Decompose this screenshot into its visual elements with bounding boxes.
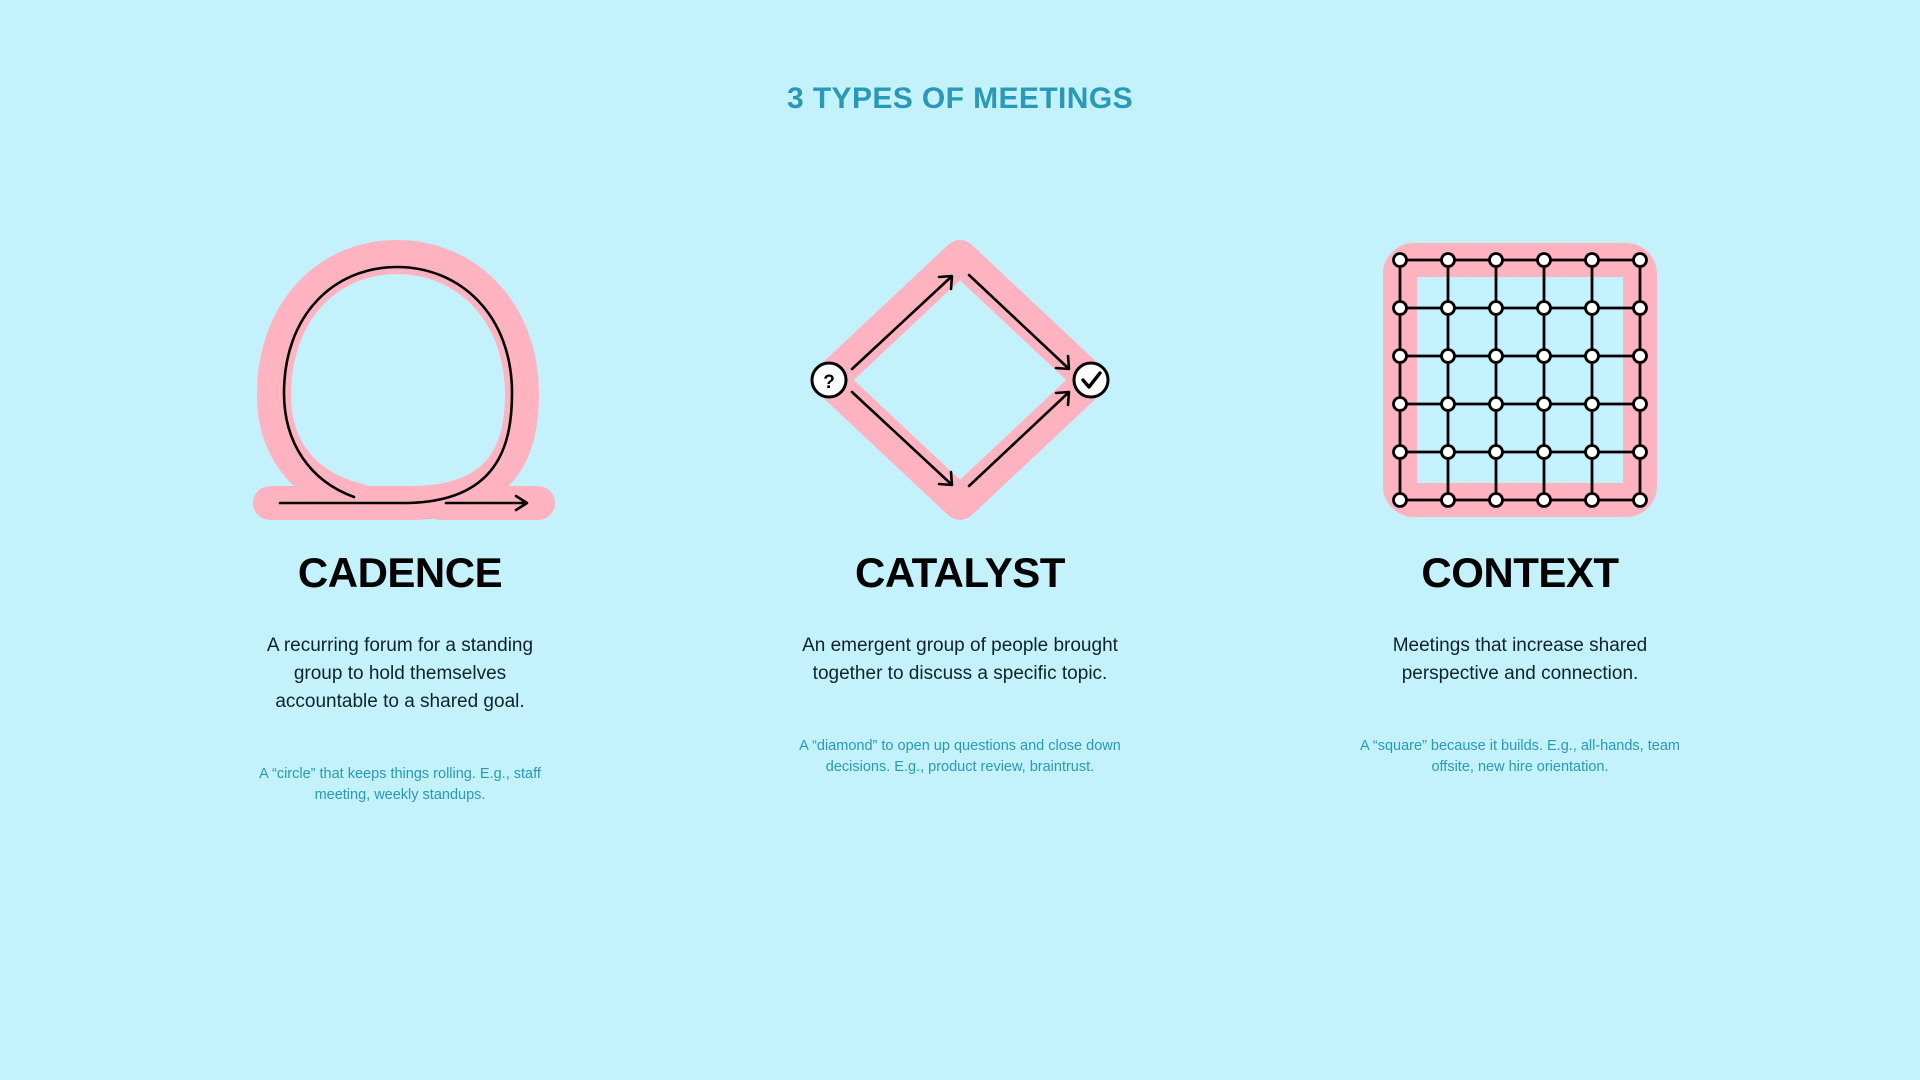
card-catalyst: ? CATALYST An emergent group of people b… xyxy=(770,230,1150,778)
context-grid-nodes xyxy=(1394,254,1647,507)
card-example-cadence: A “circle” that keeps things rolling. E.… xyxy=(255,764,545,806)
context-highlight-square xyxy=(1400,260,1640,500)
page-title: 3 TYPES OF MEETINGS xyxy=(0,82,1920,116)
card-example-catalyst: A “diamond” to open up questions and clo… xyxy=(777,736,1143,778)
loop-circle-arrow-icon xyxy=(250,235,550,525)
catalyst-icon-slot: ? xyxy=(800,230,1120,530)
card-description-catalyst: An emergent group of people brought toge… xyxy=(780,632,1140,688)
context-icon-slot xyxy=(1360,230,1680,530)
card-context: CONTEXT Meetings that increase shared pe… xyxy=(1330,230,1710,778)
card-description-cadence: A recurring forum for a standing group t… xyxy=(245,632,555,716)
context-grid-lines xyxy=(1400,260,1640,500)
cadence-icon-slot xyxy=(240,230,560,530)
catalyst-node-check xyxy=(1074,363,1108,397)
slide-canvas: 3 TYPES OF MEETINGS CADENCE A recurring … xyxy=(0,0,1920,1080)
card-description-context: Meetings that increase shared perspectiv… xyxy=(1370,632,1670,688)
card-heading-cadence: CADENCE xyxy=(298,552,502,594)
diamond-question-check-icon: ? xyxy=(805,235,1115,525)
card-example-context: A “square” because it builds. E.g., all-… xyxy=(1355,736,1685,778)
cards-row: CADENCE A recurring forum for a standing… xyxy=(210,230,1710,806)
card-heading-catalyst: CATALYST xyxy=(855,552,1065,594)
catalyst-highlight-diamond xyxy=(829,257,1091,503)
node-grid-square-icon xyxy=(1375,235,1665,525)
card-cadence: CADENCE A recurring forum for a standing… xyxy=(210,230,590,806)
question-mark-icon: ? xyxy=(823,372,835,393)
card-heading-context: CONTEXT xyxy=(1421,552,1618,594)
catalyst-arrow-lr xyxy=(969,393,1068,486)
